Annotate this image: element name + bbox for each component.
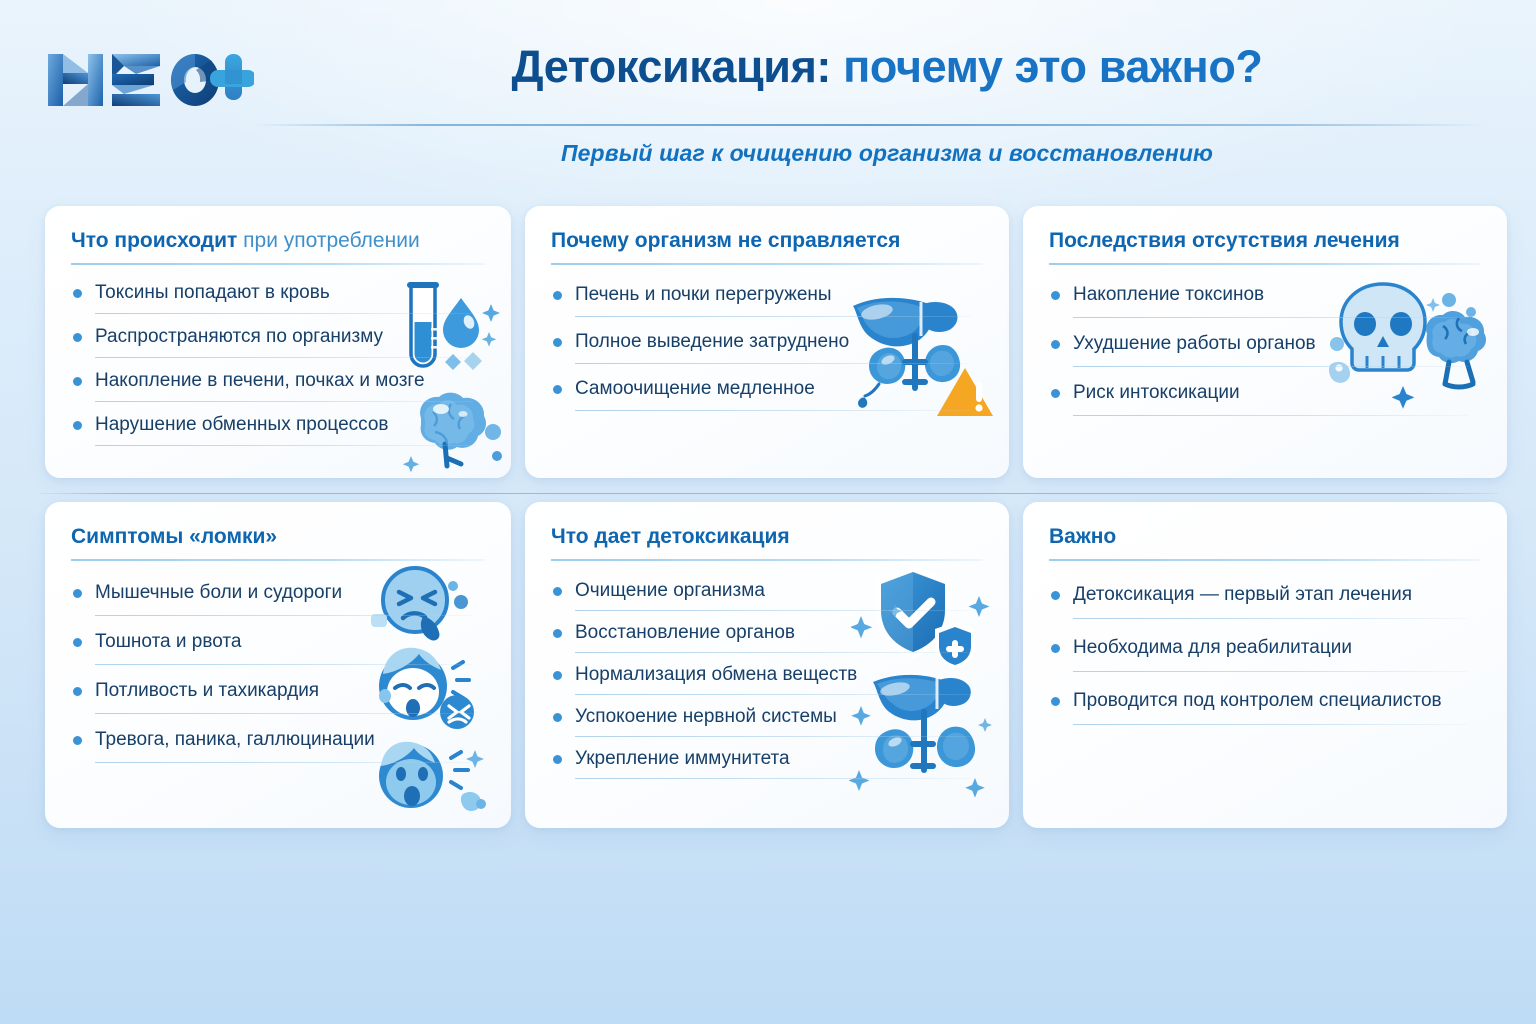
list-item-label: Токсины попадают в кровь bbox=[95, 282, 330, 303]
card-withdrawal-symptoms[interactable]: Симптомы «ломки» bbox=[45, 502, 511, 828]
card-title-bold: Последствия отсутствия лечения bbox=[1049, 229, 1400, 252]
card-header: Что происходит при употреблении bbox=[71, 228, 485, 265]
bullet-dot-icon bbox=[73, 421, 82, 430]
card-header: Симптомы «ломки» bbox=[71, 524, 485, 561]
bullet-list: Токсины попадают в кровь Распространяютс… bbox=[71, 280, 491, 456]
list-item[interactable]: Потливость и тахикардия bbox=[71, 678, 491, 714]
list-item[interactable]: Проводится под контролем специалистов bbox=[1049, 688, 1487, 725]
list-item[interactable]: Восстановление органов bbox=[551, 620, 989, 653]
card-header-rule bbox=[71, 559, 485, 561]
card-header: Что дает детоксикация bbox=[551, 524, 983, 561]
bullet-dot-icon bbox=[553, 629, 562, 638]
bullet-dot-icon bbox=[553, 338, 562, 347]
header-divider bbox=[252, 124, 1488, 126]
logo-letter-N bbox=[48, 54, 103, 106]
list-item-label: Распространяются по организму bbox=[95, 326, 383, 347]
list-item-label: Нарушение обменных процессов bbox=[95, 414, 389, 435]
bullet-dot-icon bbox=[73, 377, 82, 386]
card-header-rule bbox=[1049, 263, 1481, 265]
list-item[interactable]: Необходима для реабилитации bbox=[1049, 635, 1487, 672]
bullet-dot-icon bbox=[553, 671, 562, 680]
card-title-regular: при употреблении bbox=[237, 229, 419, 252]
bullet-list: Накопление токсинов Ухудшение работы орг… bbox=[1049, 282, 1487, 429]
list-item[interactable]: Тошнота и рвота bbox=[71, 629, 491, 665]
card-what-happens[interactable]: Что происходит при употреблении bbox=[45, 206, 511, 478]
list-item-label: Ухудшение работы органов bbox=[1073, 333, 1316, 354]
list-item-label: Проводится под контролем специалистов bbox=[1073, 690, 1442, 711]
page-header: Детоксикация: почему это важно? Первый ш… bbox=[0, 0, 1536, 190]
list-item[interactable]: Распространяются по организму bbox=[71, 324, 491, 358]
list-item-label: Восстановление органов bbox=[575, 622, 795, 643]
list-item-label: Детоксикация — первый этап лечения bbox=[1073, 584, 1412, 605]
list-item-label: Печень и почки перегружены bbox=[575, 284, 832, 305]
card-header-rule bbox=[71, 263, 485, 265]
list-item-label: Очищение организма bbox=[575, 580, 765, 601]
list-item[interactable]: Самоочищение медленное bbox=[551, 376, 989, 411]
bullet-dot-icon bbox=[73, 736, 82, 745]
list-item-label: Полное выведение затруднено bbox=[575, 331, 849, 352]
bullet-dot-icon bbox=[553, 291, 562, 300]
list-item-label: Мышечные боли и судороги bbox=[95, 582, 342, 603]
bullet-dot-icon bbox=[553, 385, 562, 394]
list-item[interactable]: Накопление токсинов bbox=[1049, 282, 1487, 318]
card-title-bold: Что дает детоксикация bbox=[551, 525, 790, 548]
cards-row-bottom: Симптомы «ломки» bbox=[45, 502, 1495, 828]
bullet-dot-icon bbox=[553, 755, 562, 764]
bullet-dot-icon bbox=[73, 638, 82, 647]
cards-grid: Что происходит при употреблении bbox=[45, 206, 1495, 828]
bullet-list: Мышечные боли и судороги Тошнота и рвота… bbox=[71, 580, 491, 776]
list-item[interactable]: Токсины попадают в кровь bbox=[71, 280, 491, 314]
page-subtitle: Первый шаг к очищению организма и восста… bbox=[272, 140, 1502, 167]
card-header-rule bbox=[551, 263, 983, 265]
card-title-bold: Почему организм не справляется bbox=[551, 229, 900, 252]
page-title-light: почему это важно? bbox=[831, 41, 1262, 92]
list-item[interactable]: Накопление в печени, почках и мозге bbox=[71, 368, 491, 402]
page-title-strong: Детоксикация: bbox=[512, 41, 832, 92]
bullet-dot-icon bbox=[73, 589, 82, 598]
card-detox-benefits[interactable]: Что дает детоксикация bbox=[525, 502, 1009, 828]
list-item-label: Тревога, паника, галлюцинации bbox=[95, 729, 375, 750]
list-item[interactable]: Печень и почки перегружены bbox=[551, 282, 989, 317]
list-item[interactable]: Ухудшение работы органов bbox=[1049, 331, 1487, 367]
card-header-rule bbox=[1049, 559, 1481, 561]
list-item[interactable]: Укрепление иммунитета bbox=[551, 746, 989, 779]
list-item[interactable]: Тревога, паника, галлюцинации bbox=[71, 727, 491, 763]
bullet-list: Очищение организма Восстановление органо… bbox=[551, 578, 989, 788]
logo-letter-E bbox=[112, 54, 160, 106]
card-title-bold: Важно bbox=[1049, 525, 1116, 548]
card-header: Важно bbox=[1049, 524, 1481, 561]
card-why-body-fails[interactable]: Почему организм не справляется bbox=[525, 206, 1009, 478]
card-header: Последствия отсутствия лечения bbox=[1049, 228, 1481, 265]
bullet-list: Детоксикация — первый этап лечения Необх… bbox=[1049, 582, 1487, 741]
list-item[interactable]: Успокоение нервной системы bbox=[551, 704, 989, 737]
logo-plus-icon bbox=[210, 54, 254, 100]
bullet-dot-icon bbox=[1051, 644, 1060, 653]
bullet-dot-icon bbox=[553, 587, 562, 596]
brand-logo bbox=[44, 44, 254, 116]
list-item-label: Самоочищение медленное bbox=[575, 378, 815, 399]
bullet-dot-icon bbox=[73, 333, 82, 342]
card-title-bold: Что происходит bbox=[71, 229, 237, 252]
bullet-dot-icon bbox=[1051, 697, 1060, 706]
bullet-dot-icon bbox=[1051, 291, 1060, 300]
list-item[interactable]: Нормализация обмена веществ bbox=[551, 662, 989, 695]
card-header: Почему организм не справляется bbox=[551, 228, 983, 265]
list-item[interactable]: Детоксикация — первый этап лечения bbox=[1049, 582, 1487, 619]
list-item-label: Укрепление иммунитета bbox=[575, 748, 790, 769]
list-item-label: Накопление в печени, почках и мозге bbox=[95, 370, 425, 391]
bullet-list: Печень и почки перегружены Полное выведе… bbox=[551, 282, 989, 423]
list-item-label: Успокоение нервной системы bbox=[575, 706, 837, 727]
list-item-label: Тошнота и рвота bbox=[95, 631, 241, 652]
list-item[interactable]: Мышечные боли и судороги bbox=[71, 580, 491, 616]
list-item[interactable]: Очищение организма bbox=[551, 578, 989, 611]
bullet-dot-icon bbox=[1051, 389, 1060, 398]
bullet-dot-icon bbox=[73, 289, 82, 298]
list-item-label: Потливость и тахикардия bbox=[95, 680, 319, 701]
card-header-rule bbox=[551, 559, 983, 561]
bullet-dot-icon bbox=[553, 713, 562, 722]
list-item-label: Накопление токсинов bbox=[1073, 284, 1264, 305]
cards-row-top: Что происходит при употреблении bbox=[45, 206, 1495, 478]
list-item-label: Необходима для реабилитации bbox=[1073, 637, 1352, 658]
page-title: Детоксикация: почему это важно? bbox=[272, 36, 1502, 98]
list-item-label: Риск интоксикации bbox=[1073, 382, 1240, 403]
sparkle-icon bbox=[403, 456, 419, 472]
list-item[interactable]: Нарушение обменных процессов bbox=[71, 412, 491, 446]
bullet-dot-icon bbox=[1051, 340, 1060, 349]
bullet-dot-icon bbox=[73, 687, 82, 696]
list-item-label: Нормализация обмена веществ bbox=[575, 664, 857, 685]
list-item[interactable]: Риск интоксикации bbox=[1049, 380, 1487, 416]
list-item[interactable]: Полное выведение затруднено bbox=[551, 329, 989, 364]
card-title-bold: Симптомы «ломки» bbox=[71, 525, 277, 548]
bullet-dot-icon bbox=[1051, 591, 1060, 600]
card-important[interactable]: Важно Детоксикация — первый этап лечения… bbox=[1023, 502, 1507, 828]
card-consequences[interactable]: Последствия отсутствия лечения bbox=[1023, 206, 1507, 478]
